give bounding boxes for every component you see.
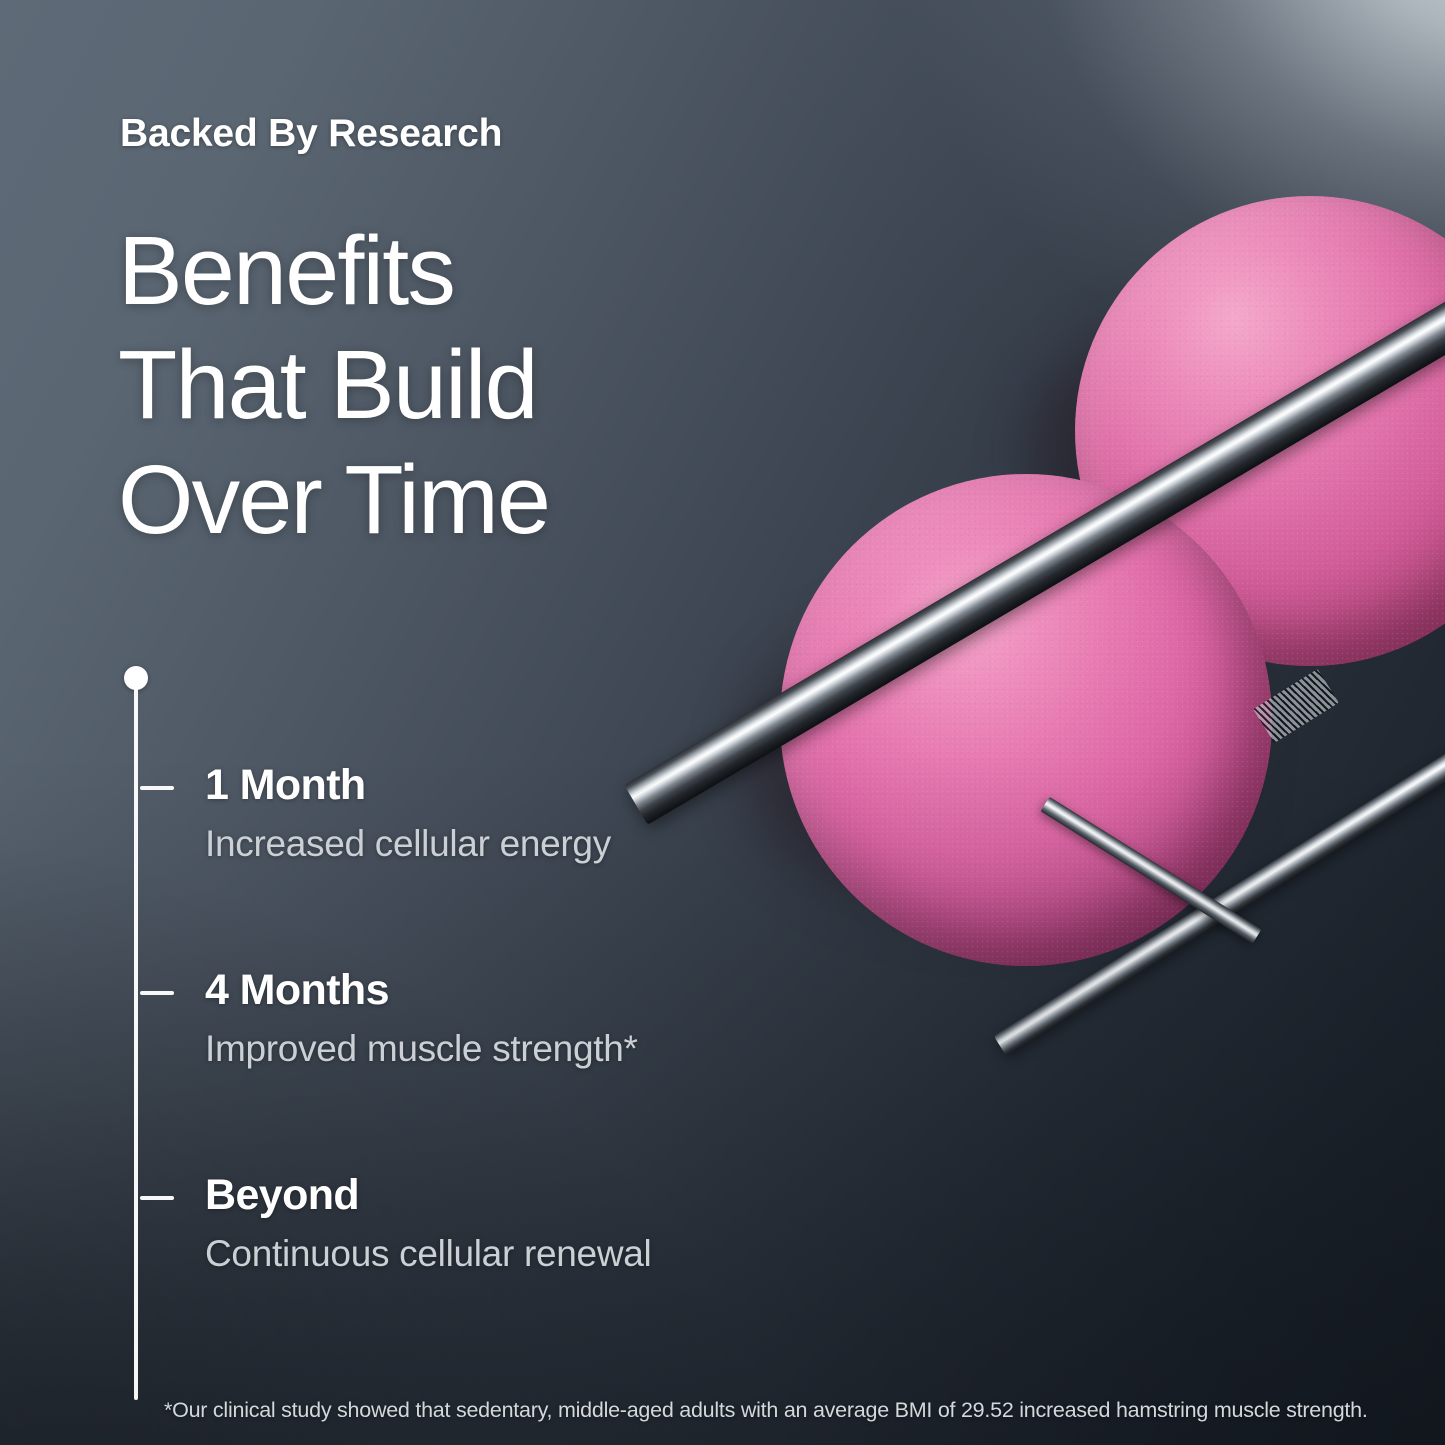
benefits-timeline: 1 Month Increased cellular energy 4 Mont… bbox=[0, 0, 760, 1445]
timeline-item-1-month: 1 Month Increased cellular energy bbox=[205, 761, 611, 865]
timeline-description: Improved muscle strength* bbox=[205, 1028, 638, 1070]
timeline-axis-line bbox=[134, 688, 138, 1400]
timeline-description: Increased cellular energy bbox=[205, 823, 611, 865]
timeline-tick-4-months bbox=[140, 991, 174, 995]
timeline-tick-1-month bbox=[140, 786, 174, 790]
timeline-item-beyond: Beyond Continuous cellular renewal bbox=[205, 1171, 651, 1275]
copy-column: Backed By Research Benefits That Build O… bbox=[0, 0, 760, 1445]
timeline-term: Beyond bbox=[205, 1171, 651, 1220]
clinical-study-footnote: *Our clinical study showed that sedentar… bbox=[164, 1398, 1368, 1423]
timeline-tick-beyond bbox=[140, 1196, 174, 1200]
product-benefits-infographic: Backed By Research Benefits That Build O… bbox=[0, 0, 1445, 1445]
timeline-start-dot-icon bbox=[124, 666, 148, 690]
timeline-term: 1 Month bbox=[205, 761, 611, 810]
timeline-description: Continuous cellular renewal bbox=[205, 1233, 651, 1275]
timeline-term: 4 Months bbox=[205, 966, 638, 1015]
timeline-item-4-months: 4 Months Improved muscle strength* bbox=[205, 966, 638, 1070]
